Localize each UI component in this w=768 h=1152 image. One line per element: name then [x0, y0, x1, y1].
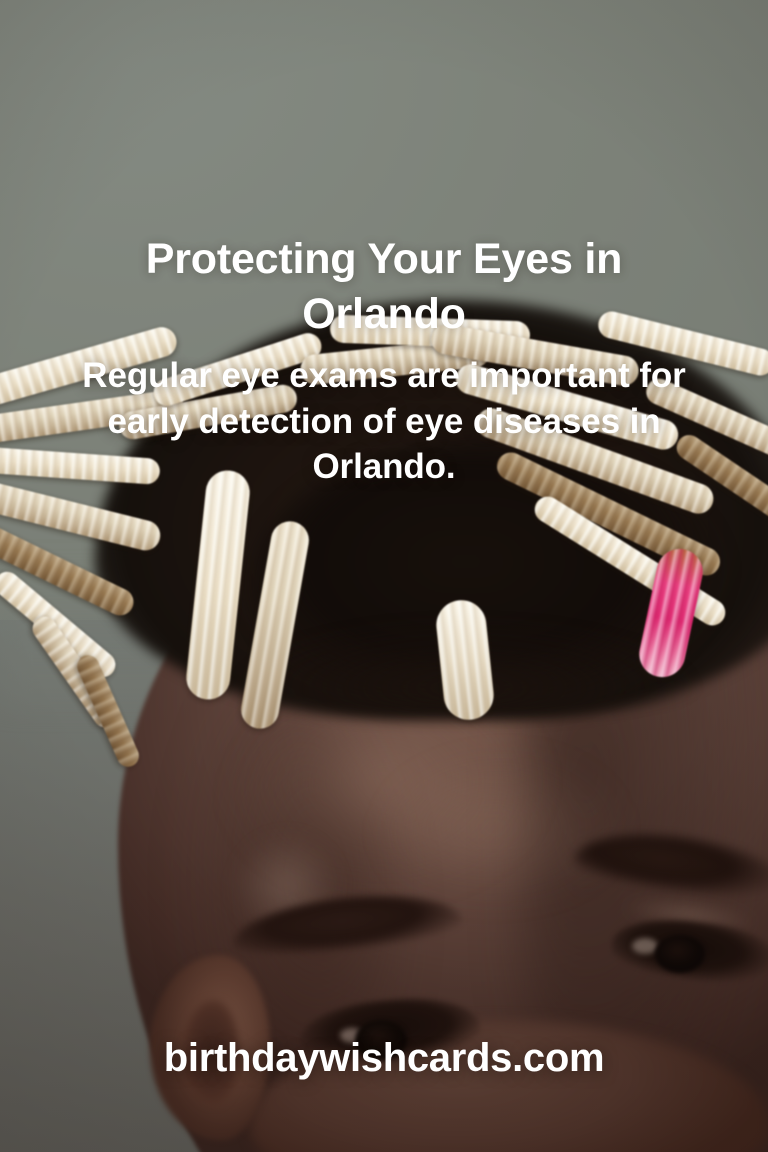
text-overlay: Protecting Your Eyes in Orlando Regular …	[0, 0, 768, 1152]
pin-subtitle: Regular eye exams are important for earl…	[54, 353, 714, 490]
pin-title: Protecting Your Eyes in Orlando	[64, 232, 704, 341]
pinterest-pin-graphic: Protecting Your Eyes in Orlando Regular …	[0, 0, 768, 1152]
website-url-footer[interactable]: birthdaywishcards.com	[0, 1036, 768, 1081]
